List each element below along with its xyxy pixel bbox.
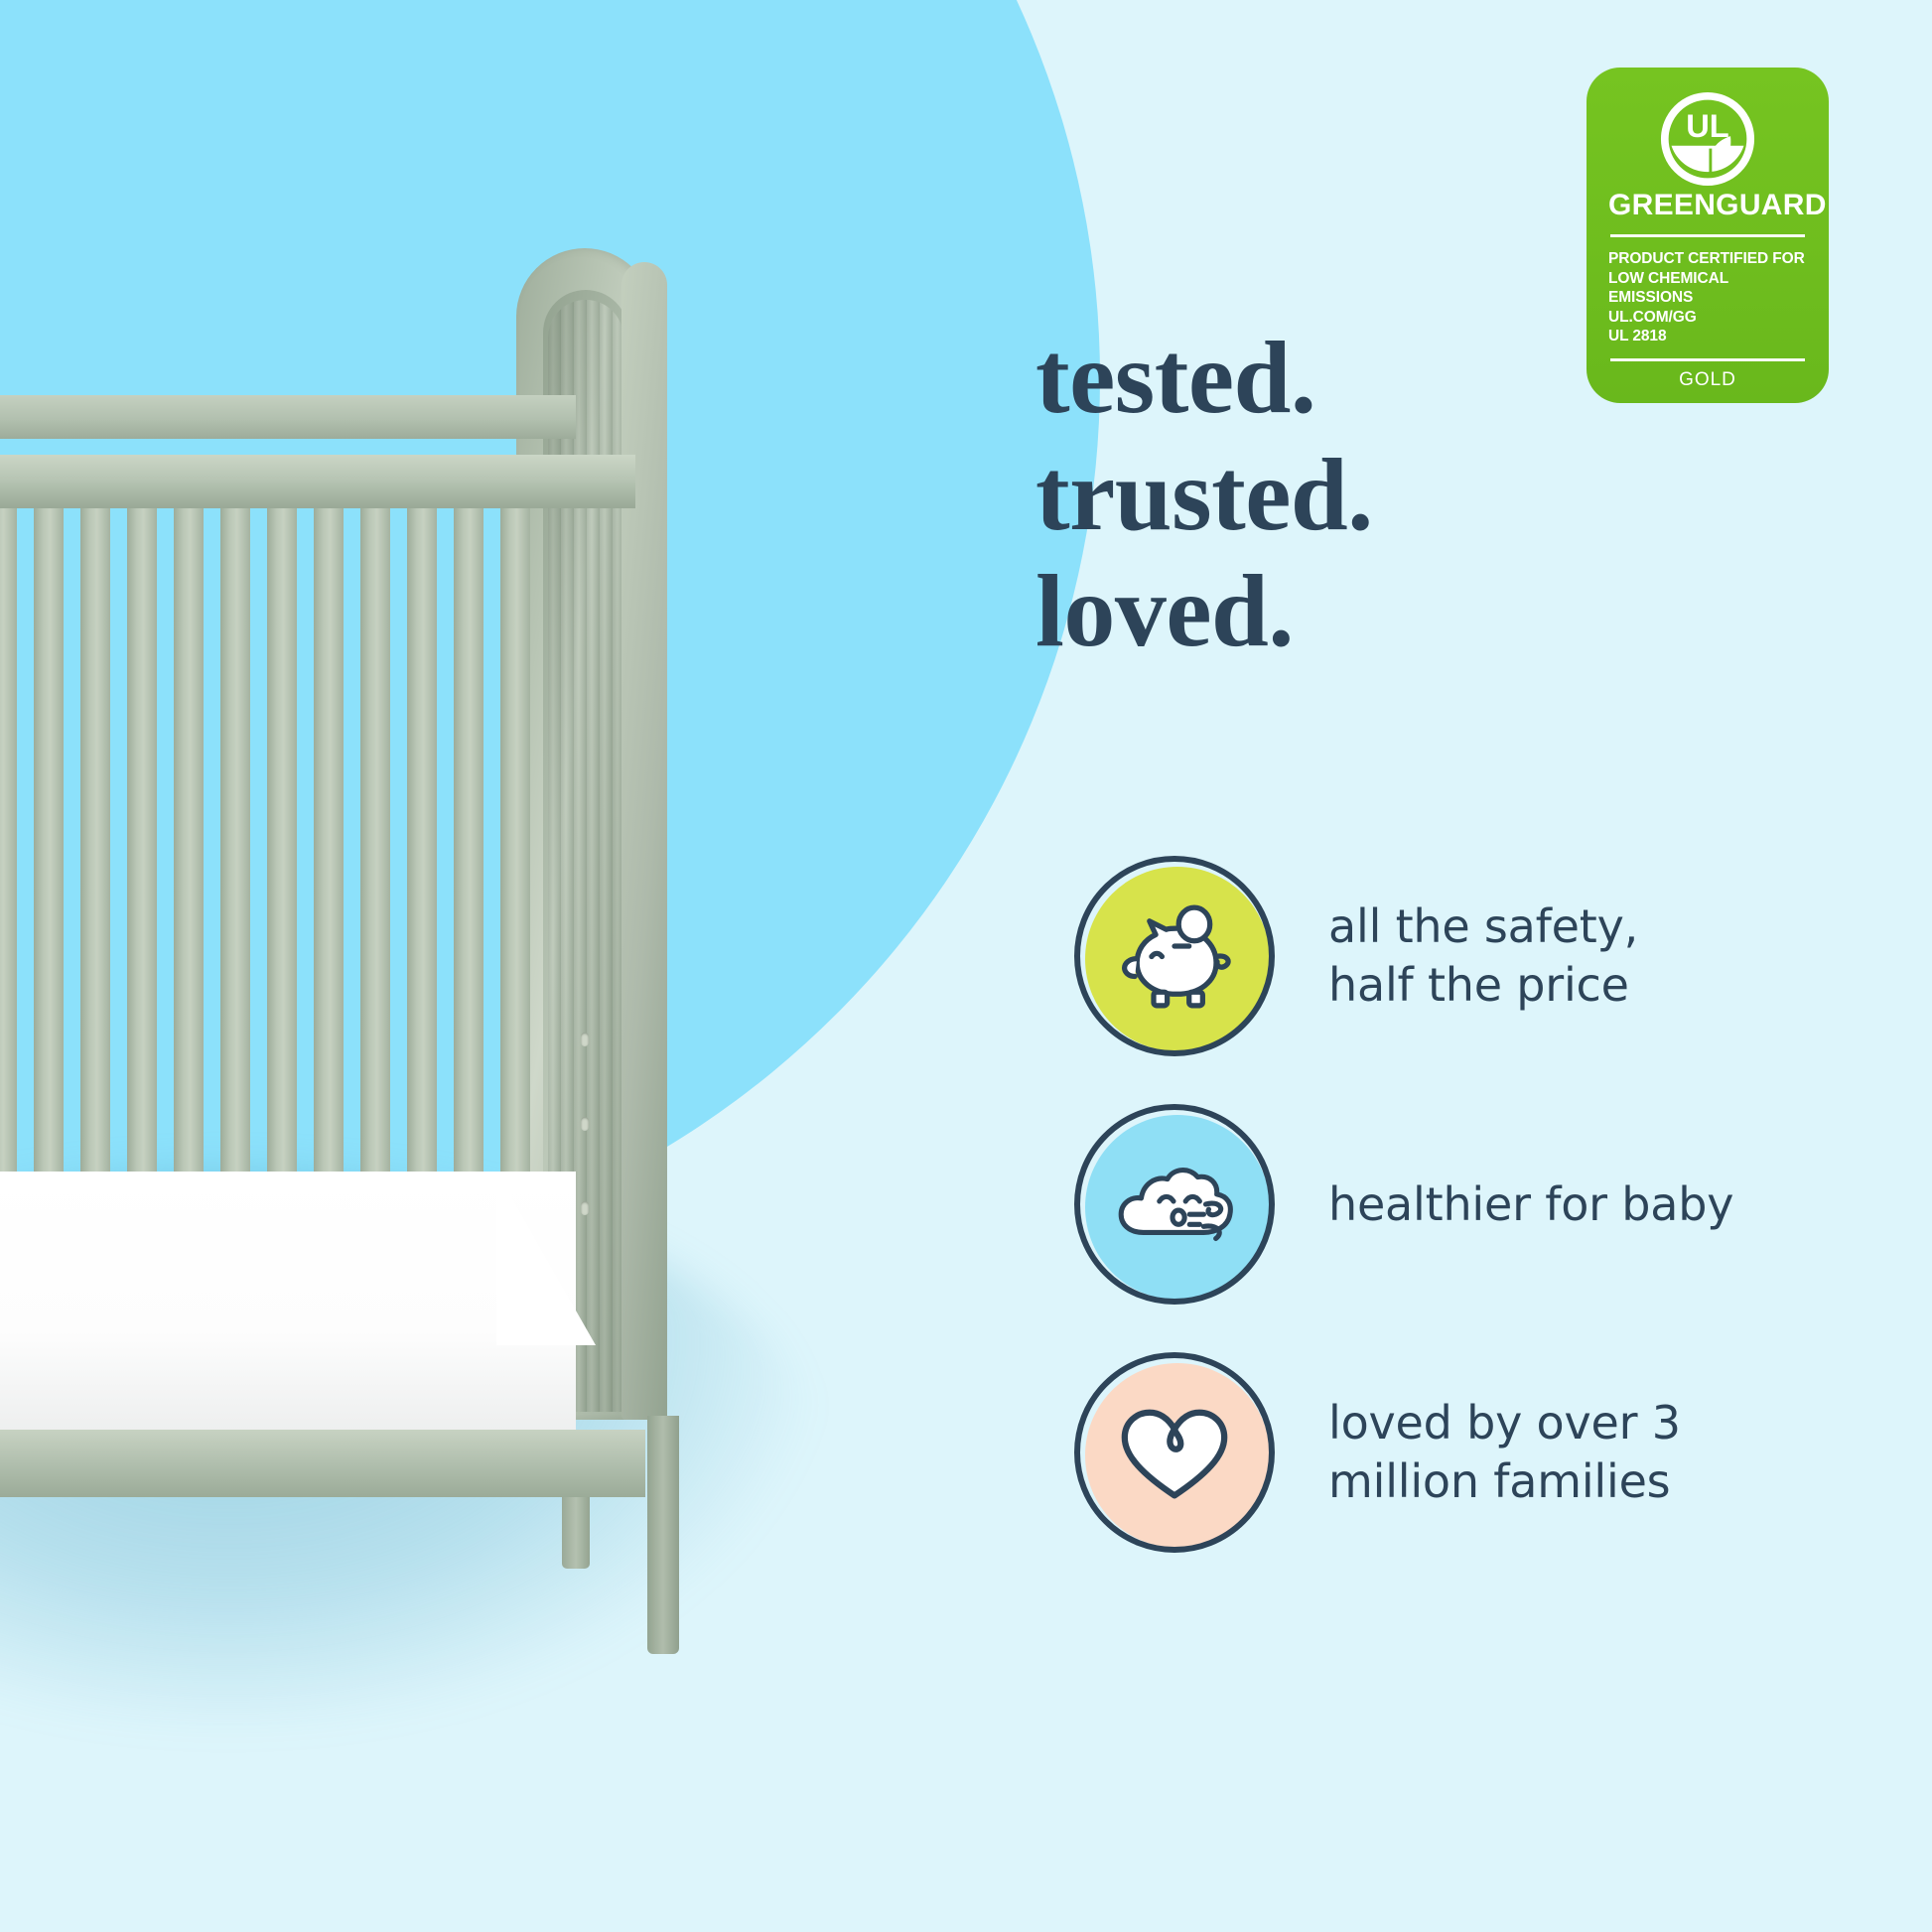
product-marketing-image: UL GREENGUARD PRODUCT CERTIFIED FOR LOW … bbox=[0, 0, 1932, 1932]
mattress-height-hole bbox=[581, 1117, 589, 1131]
feature-label-health: healthier for baby bbox=[1328, 1175, 1733, 1234]
svg-text:UL: UL bbox=[1686, 107, 1729, 144]
crib-illustration bbox=[0, 248, 764, 1420]
headline-line-3: loved. bbox=[1035, 553, 1810, 670]
headline-line-1: tested. bbox=[1035, 320, 1810, 437]
badge-cert-line-2: LOW CHEMICAL EMISSIONS bbox=[1608, 269, 1807, 308]
crib-upper-rail bbox=[0, 395, 576, 439]
badge-divider-top bbox=[1610, 234, 1805, 237]
feature-price-line-1: all the safety, bbox=[1328, 897, 1638, 956]
crib-leg-rear bbox=[647, 1416, 679, 1654]
crib-corner-post bbox=[621, 262, 667, 1420]
feature-loved-line-1: loved by over 3 bbox=[1328, 1394, 1681, 1452]
mattress-height-hole bbox=[581, 1201, 589, 1215]
feature-loved-line-2: million families bbox=[1328, 1452, 1681, 1511]
greenguard-wordmark: GREENGUARD bbox=[1608, 191, 1807, 220]
cloud-blowing-icon bbox=[1074, 1104, 1275, 1305]
feature-item-loved: loved by over 3 million families bbox=[1074, 1328, 1868, 1577]
piggy-bank-icon bbox=[1074, 856, 1275, 1056]
ul-leaf-icon: UL bbox=[1660, 91, 1755, 187]
cloud-glyph bbox=[1074, 1104, 1275, 1305]
feature-list: all the safety, half the price bbox=[1074, 832, 1868, 1577]
feature-label-price: all the safety, half the price bbox=[1328, 897, 1638, 1015]
piggy-bank-glyph bbox=[1074, 856, 1275, 1056]
headline-line-2: trusted. bbox=[1035, 437, 1810, 554]
feature-label-loved: loved by over 3 million families bbox=[1328, 1394, 1681, 1511]
crib-base-rail bbox=[0, 1430, 645, 1497]
heart-icon bbox=[1074, 1352, 1275, 1553]
feature-item-health: healthier for baby bbox=[1074, 1080, 1868, 1328]
feature-price-line-2: half the price bbox=[1328, 956, 1638, 1015]
heart-glyph bbox=[1074, 1352, 1275, 1553]
page-title: tested. trusted. loved. bbox=[1035, 320, 1810, 670]
badge-cert-line-1: PRODUCT CERTIFIED FOR bbox=[1608, 249, 1807, 269]
crib-leg-front bbox=[562, 1497, 590, 1569]
feature-item-price: all the safety, half the price bbox=[1074, 832, 1868, 1080]
crib-top-rail bbox=[0, 455, 635, 508]
feature-health-line-1: healthier for baby bbox=[1328, 1175, 1733, 1234]
mattress-height-hole bbox=[581, 1033, 589, 1046]
